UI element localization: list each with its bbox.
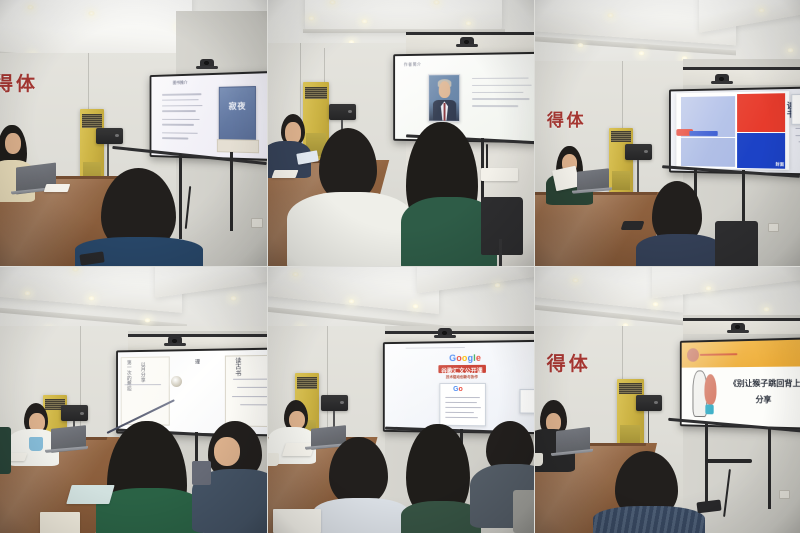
slide-4-doc-right	[225, 355, 267, 427]
paper-sheet-3[interactable]	[552, 165, 580, 191]
slide-5-subhead: 技术驱动创新与协作	[435, 375, 489, 380]
video-conference-camera-3	[715, 74, 729, 83]
ceiling-light-6e	[763, 307, 770, 312]
person-attendee-body-5b	[401, 501, 481, 533]
slide-3-text-line	[795, 128, 800, 129]
photo-panel-3[interactable]: · 得体	[535, 0, 800, 266]
wall-socket-1	[251, 218, 263, 228]
ceiling-light-4d	[230, 296, 237, 301]
chair-leg-2	[499, 239, 502, 266]
slide-1-book-caption-pad	[217, 140, 259, 154]
video-conference-camera-1	[200, 59, 214, 68]
display-frame-6[interactable]: 《别让猴子跳回背上》 分享	[680, 337, 800, 430]
speaker-2	[329, 104, 356, 120]
speaker-3	[625, 144, 652, 160]
photo-panel-4[interactable]: 第一次的邂逅 以月分享 理 读古书	[0, 267, 267, 533]
ceiling-recess-2	[305, 0, 502, 32]
display-stand-leg-1b	[230, 152, 233, 232]
slide-5-toolbar	[406, 348, 465, 350]
slide-2-header: 作者简介	[404, 62, 422, 68]
person-attendee-body-4	[96, 488, 203, 533]
google-letter-G: G	[449, 353, 456, 363]
display-surface-3: 封面 读书	[671, 88, 800, 173]
chair-4[interactable]	[0, 427, 11, 475]
google-letter-e: e	[476, 353, 481, 363]
papers-1	[44, 184, 71, 192]
slide-1-header: 图书推介	[173, 80, 188, 86]
room-scene-6: · 得体	[535, 267, 800, 533]
person-attendee-face-4b	[214, 437, 241, 466]
google-letter-o2: o	[462, 353, 468, 363]
portrait-tie	[444, 103, 446, 120]
pointer-highlight-4	[171, 376, 182, 387]
ac-vent-1	[82, 114, 102, 128]
ceiling-light-3d	[638, 51, 645, 56]
slide-3-thumb	[791, 93, 800, 124]
air-conditioner-3	[609, 128, 633, 202]
ceiling-light-1b	[88, 11, 95, 16]
slide-2-text-line	[473, 92, 524, 94]
slide-4-column-b: 以月分享	[140, 362, 145, 383]
book-cover-title: 寂夜	[220, 100, 255, 111]
slide-1-text-line	[162, 105, 203, 107]
chair-5[interactable]	[513, 490, 534, 533]
display-surface-5: Google 谷歌汇文公开课 技术驱动创新与协作 Go	[384, 342, 534, 432]
person-attendee-body-2a	[287, 192, 415, 266]
display-frame-1[interactable]: 图书推介 寂夜	[150, 71, 267, 162]
wall-calligraphy-6: · 得体	[535, 349, 591, 376]
ceiling-light-3f	[787, 48, 794, 53]
room-scene-3: · 得体	[535, 0, 800, 266]
display-surface-6: 《别让猴子跳回背上》 分享	[682, 339, 800, 428]
slide-1: 图书推介 寂夜	[152, 73, 267, 160]
person-attendee-head-5a	[329, 437, 388, 506]
ac-vent-2	[305, 87, 327, 99]
cover-badge: 封面	[775, 161, 784, 167]
ceiling-light-3c	[577, 43, 584, 48]
ceiling-light-4f	[144, 318, 151, 323]
slide-6-illustration	[690, 368, 724, 420]
speaker-4	[61, 405, 88, 421]
slide-2-text-line	[473, 105, 520, 107]
slide-4-column-d: 读古书	[233, 358, 240, 377]
slide-1-text-line	[162, 124, 194, 126]
slide-4-column-a: 第一次的邂逅	[126, 361, 131, 392]
video-conference-camera-5	[438, 328, 452, 337]
video-conference-camera-2	[460, 37, 474, 46]
cup-4[interactable]	[29, 437, 42, 450]
cup-6[interactable]	[535, 453, 543, 466]
slide-2: 作者简介	[395, 54, 534, 142]
display-stand-leg-6a	[705, 424, 708, 509]
slide-2-text-line	[473, 85, 532, 87]
photo-panel-5[interactable]: Google 谷歌汇文公开课 技术驱动创新与协作 Go	[268, 267, 534, 533]
ceiling-light-2b	[433, 0, 440, 5]
wall-calligraphy-3: · 得体	[535, 106, 586, 131]
slide-1-text-line	[162, 119, 200, 121]
illustration-bag	[705, 404, 714, 413]
room-scene-1: 得体 图书推介	[0, 0, 267, 266]
portrait-head	[439, 81, 451, 97]
ac-vent-5	[297, 377, 317, 388]
display-frame-2[interactable]: 作者简介	[394, 52, 534, 144]
ceiling-light-3b	[758, 8, 765, 13]
display-frame-3[interactable]: 封面 读书	[669, 86, 800, 176]
ceiling-light-4b	[24, 291, 31, 296]
ceiling-light-5d	[412, 304, 419, 309]
slide-6: 《别让猴子跳回背上》 分享	[682, 339, 800, 428]
google-logo: Google	[449, 353, 481, 363]
display-stand-leg-1a	[179, 154, 182, 239]
google-letter-o1: o	[456, 353, 462, 363]
speaker-5	[321, 395, 348, 411]
person-attendee-body-6	[593, 506, 704, 533]
card-text-line	[445, 417, 478, 418]
slide-3-text-line	[795, 134, 800, 135]
ceiling-light-5c	[348, 299, 355, 304]
slide-3: 封面 读书	[671, 88, 800, 173]
card-letter-G: G	[453, 387, 459, 394]
papers-2	[272, 170, 299, 178]
slide-2-text-line	[473, 78, 529, 80]
slide-1-text-line	[162, 111, 196, 113]
display-surface-1: 图书推介 寂夜	[152, 73, 267, 160]
ceiling-light-2c	[308, 16, 315, 21]
slide-5: Google 谷歌汇文公开课 技术驱动创新与协作 Go	[384, 342, 534, 432]
slide-6-banner-monkey	[687, 348, 699, 361]
cup-5[interactable]	[268, 453, 279, 466]
photo-panel-6[interactable]: · 得体	[535, 267, 800, 533]
cover-block-red	[737, 93, 786, 132]
illustration-monkey	[705, 374, 717, 405]
person-attendee-body-3	[636, 234, 723, 266]
display-surface-2: 作者简介	[395, 54, 534, 142]
ac-vent-6	[619, 383, 641, 394]
books-stack-4	[67, 485, 115, 504]
ac-vent-3	[611, 131, 631, 141]
smartphone-3[interactable]	[621, 221, 645, 230]
card-letter-o: o	[458, 387, 462, 394]
ceiling-light-5b	[494, 283, 501, 288]
ceiling-light-2d	[361, 19, 368, 24]
cover-tab-blue	[689, 131, 717, 136]
display-stand-leg-6b	[768, 429, 771, 509]
slide-1-text-line	[162, 138, 189, 140]
video-conference-camera-4	[168, 336, 182, 345]
photo-panel-1[interactable]: 得体 图书推介	[0, 0, 267, 266]
smartphone-4[interactable]	[192, 461, 211, 485]
slide-5-thumb	[519, 389, 534, 414]
box-4	[40, 512, 80, 533]
card-logo: Go	[453, 387, 463, 394]
ceiling-light-3a	[607, 13, 614, 18]
chair-3[interactable]	[715, 221, 757, 266]
slide-6-banner-text	[700, 353, 738, 356]
wall-socket-3	[768, 223, 779, 232]
slide-1-text-line	[162, 99, 199, 101]
wall-calligraphy-1: 得体	[0, 69, 38, 96]
card-text-line	[445, 402, 477, 403]
slide-1-text-line	[162, 93, 201, 95]
speaker-6	[636, 395, 663, 411]
room-scene-4: 第一次的邂逅 以月分享 理 读古书	[0, 267, 267, 533]
room-scene-5: Google 谷歌汇文公开课 技术驱动创新与协作 Go	[268, 267, 534, 533]
slide-6-subtitle: 分享	[756, 394, 772, 405]
wall-socket-6	[779, 490, 790, 499]
slide-6-title: 《别让猴子跳回背上》	[730, 378, 800, 389]
slide-1-book-cover: 寂夜	[219, 86, 256, 141]
ceiling-light-6b	[705, 286, 712, 291]
photo-collage-grid: 得体 图书推介	[0, 0, 800, 533]
ceiling-light-6c	[652, 302, 659, 307]
slide-4-column-c: 理	[194, 360, 199, 365]
video-conference-camera-6	[731, 323, 745, 332]
card-text-line	[445, 407, 480, 408]
ceiling-light-6a	[572, 278, 579, 283]
slide-1-text-line	[162, 132, 197, 134]
notebook-foreground-5	[273, 509, 321, 533]
slide-3-cover: 封面	[676, 91, 789, 169]
ac-panel-3	[612, 171, 630, 190]
card-text-line	[445, 412, 474, 413]
photo-panel-2[interactable]: 作者简介	[268, 0, 534, 266]
room-scene-2: 作者简介	[268, 0, 534, 266]
cover-block-lightblue-2	[680, 137, 735, 166]
papers-on-table-2	[481, 168, 518, 181]
slide-2-text-line	[473, 99, 531, 100]
speaker-1	[96, 128, 123, 144]
projection-roller-3	[683, 67, 800, 86]
slide-5-card: Go	[440, 384, 486, 427]
speaker-tripod-3	[637, 160, 639, 195]
card-text-line	[445, 398, 480, 399]
power-strip-6	[705, 459, 753, 463]
slide-2-portrait	[429, 74, 461, 122]
person-attendee-body-5a	[313, 498, 409, 533]
